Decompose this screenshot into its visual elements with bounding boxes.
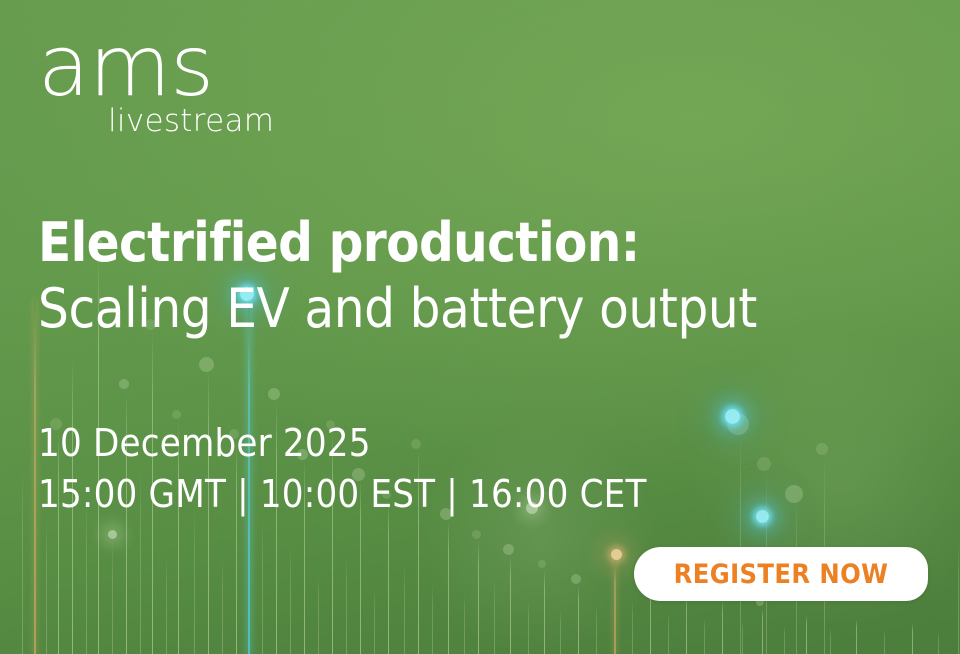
event-date: 10 December 2025 <box>38 418 647 469</box>
event-times: 15:00 GMT | 10:00 EST | 16:00 CET <box>38 469 647 520</box>
headline-block: Electrified production: Scaling EV and b… <box>38 214 943 348</box>
event-details-block: 10 December 2025 15:00 GMT | 10:00 EST |… <box>38 418 647 521</box>
headline-line-2: Scaling EV and battery output <box>38 271 943 348</box>
webinar-promo-banner: ams livestream Electrified production: S… <box>0 0 960 654</box>
logo-sublabel: livestream <box>108 103 274 139</box>
logo-wordmark: ams <box>38 28 274 105</box>
register-now-label: REGISTER NOW <box>674 559 889 590</box>
headline-line-1: Electrified production: <box>38 214 943 271</box>
register-now-button[interactable]: REGISTER NOW <box>634 547 928 601</box>
ams-livestream-logo: ams livestream <box>38 28 274 139</box>
